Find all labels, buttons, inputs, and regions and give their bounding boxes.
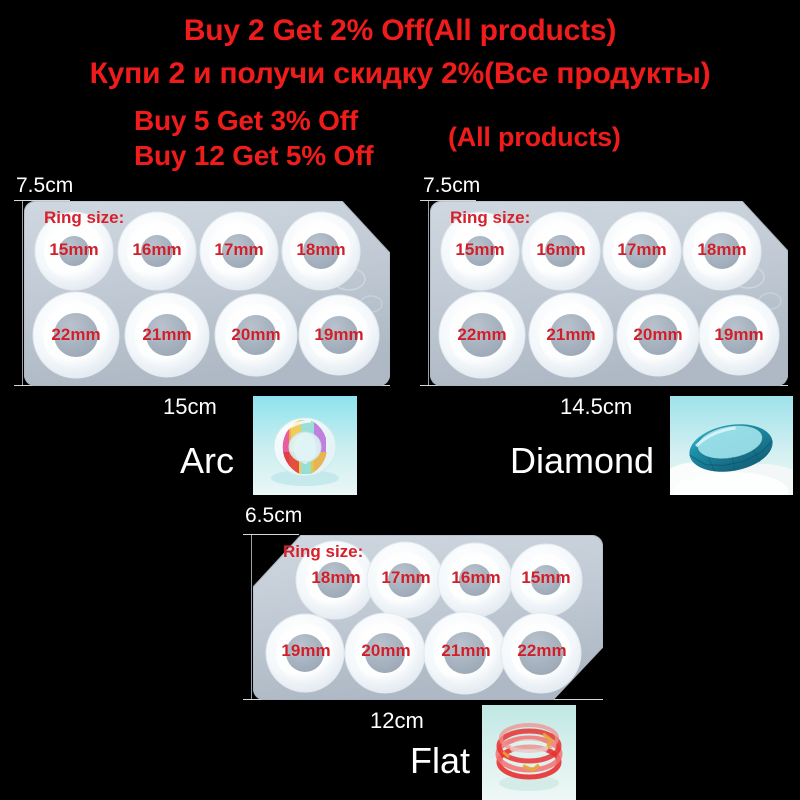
promo-line-buy2-ru: Купи 2 и получи скидку 2%(Все продукты) bbox=[0, 57, 800, 91]
arc-height-dimension-text: 7.5cm bbox=[16, 174, 73, 198]
diamond-height-dimension-text: 7.5cm bbox=[423, 174, 480, 198]
diamond-cavity-label-19mm: 19mm bbox=[714, 325, 763, 345]
flat-cavity-label-21mm: 21mm bbox=[441, 641, 490, 661]
arc-ring-size-heading: Ring size: bbox=[44, 208, 124, 228]
flat-cavity-label-22mm: 22mm bbox=[517, 641, 566, 661]
flat-height-dimension-line bbox=[251, 534, 252, 700]
arc-cavity-label-21mm: 21mm bbox=[142, 325, 191, 345]
diamond-cavity-label-15mm: 15mm bbox=[455, 240, 504, 260]
mold-panel-arc: 7.5cm 15cm bbox=[0, 172, 400, 500]
promo-line-buy12: Buy 12 Get 5% Off bbox=[134, 140, 373, 172]
arc-cavity-label-15mm: 15mm bbox=[49, 240, 98, 260]
flat-type-name: Flat bbox=[410, 740, 470, 782]
flat-cavity-label-19mm: 19mm bbox=[281, 641, 330, 661]
flat-width-dimension-text: 12cm bbox=[370, 708, 424, 734]
arc-cavity-label-17mm: 17mm bbox=[214, 240, 263, 260]
product-image-canvas: Buy 2 Get 2% Off(All products) Купи 2 и … bbox=[0, 0, 800, 800]
promotion-banner: Buy 2 Get 2% Off(All products) Купи 2 и … bbox=[0, 0, 800, 172]
diamond-cavity-label-18mm: 18mm bbox=[697, 240, 746, 260]
promo-line-buy5: Buy 5 Get 3% Off bbox=[134, 105, 358, 137]
flat-cavity-label-16mm: 16mm bbox=[451, 568, 500, 588]
diamond-width-dimension-text: 14.5cm bbox=[560, 394, 632, 420]
flat-ring-size-heading: Ring size: bbox=[283, 542, 363, 562]
diamond-cavity-label-21mm: 21mm bbox=[546, 325, 595, 345]
arc-cavity-label-20mm: 20mm bbox=[231, 325, 280, 345]
flat-height-dimension-text: 6.5cm bbox=[245, 504, 302, 528]
flat-cavity-label-20mm: 20mm bbox=[361, 641, 410, 661]
diamond-mold-body bbox=[430, 201, 788, 386]
arc-cavity-label-22mm: 22mm bbox=[51, 325, 100, 345]
diamond-cavity-label-22mm: 22mm bbox=[457, 325, 506, 345]
promo-line-buy2: Buy 2 Get 2% Off(All products) bbox=[0, 14, 800, 48]
arc-height-dimension-line bbox=[22, 200, 23, 386]
arc-cavity-label-16mm: 16mm bbox=[132, 240, 181, 260]
diamond-ring-photo bbox=[670, 396, 793, 495]
arc-width-dimension-text: 15cm bbox=[163, 394, 217, 420]
arc-ring-photo bbox=[253, 396, 357, 495]
flat-cavity-label-15mm: 15mm bbox=[521, 568, 570, 588]
mold-panel-diamond: 7.5cm 14.5cm bbox=[400, 172, 800, 500]
diamond-ring-size-heading: Ring size: bbox=[450, 208, 530, 228]
arc-mold-body bbox=[24, 201, 390, 386]
mold-panel-flat: 6.5cm 12cm bbox=[220, 500, 620, 800]
diamond-cavity-label-17mm: 17mm bbox=[617, 240, 666, 260]
diamond-height-dimension-line bbox=[428, 200, 429, 386]
flat-cavity-label-18mm: 18mm bbox=[311, 568, 360, 588]
arc-cavity-label-19mm: 19mm bbox=[314, 325, 363, 345]
diamond-cavity-label-16mm: 16mm bbox=[536, 240, 585, 260]
diamond-type-name: Diamond bbox=[510, 440, 654, 482]
arc-cavity-label-18mm: 18mm bbox=[296, 240, 345, 260]
diamond-cavity-label-20mm: 20mm bbox=[633, 325, 682, 345]
flat-ring-photo bbox=[482, 705, 576, 800]
flat-cavity-label-17mm: 17mm bbox=[381, 568, 430, 588]
promo-line-all-products: (All products) bbox=[448, 122, 621, 153]
arc-type-name: Arc bbox=[180, 440, 234, 482]
